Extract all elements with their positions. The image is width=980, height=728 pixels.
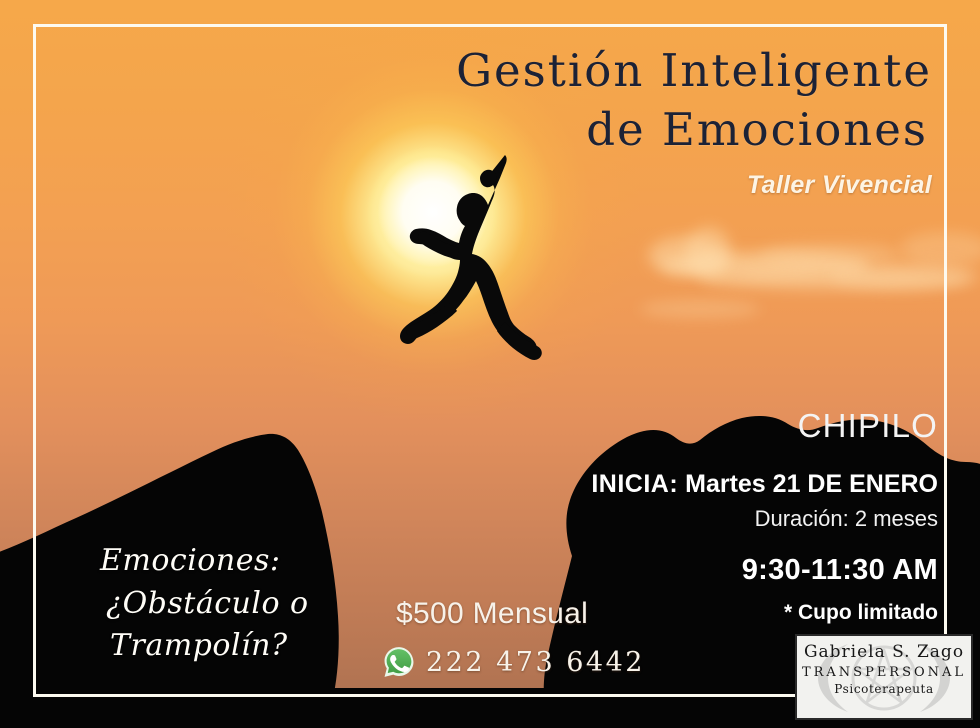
event-details-block: CHIPILO INICIA: Martes 21 DE ENERO Durac…	[538, 408, 938, 625]
poster-title-block: Gestión Inteligente de Emociones Taller …	[412, 42, 932, 200]
tagline-line-1: Emociones:	[100, 540, 390, 583]
phone-number[interactable]: 222 473 6442	[426, 647, 645, 678]
event-time: 9:30-11:30 AM	[538, 554, 938, 587]
event-start-date: INICIA: Martes 21 DE ENERO	[538, 470, 938, 500]
start-value: Martes 21 DE ENERO	[685, 470, 938, 498]
cloud-wisp	[686, 226, 732, 278]
poster-flyer: Gestión Inteligente de Emociones Taller …	[0, 0, 980, 728]
logo-role: Psicoterapeuta	[797, 682, 971, 696]
therapist-logo: Gabriela S. Zago TRANSPERSONAL Psicotera…	[795, 634, 973, 720]
cloud-wisp	[900, 232, 980, 266]
logo-text-block: Gabriela S. Zago TRANSPERSONAL Psicotera…	[797, 636, 971, 697]
whatsapp-contact[interactable]: 222 473 6442	[382, 645, 645, 679]
poster-tagline: Emociones: ¿Obstáculo o Trampolín?	[100, 540, 390, 668]
cloud-wisp	[640, 300, 760, 318]
event-duration: Duración: 2 meses	[538, 506, 938, 532]
logo-specialty: TRANSPERSONAL	[797, 664, 971, 682]
title-line-2: de Emociones	[412, 101, 932, 160]
logo-name: Gabriela S. Zago	[797, 643, 971, 662]
poster-subtitle: Taller Vivencial	[412, 171, 932, 200]
event-capacity-note: * Cupo limitado	[538, 601, 938, 625]
whatsapp-icon[interactable]	[382, 645, 416, 679]
cloud-wisp	[830, 262, 980, 290]
event-city: CHIPILO	[538, 408, 938, 444]
price-label: $500 Mensual	[396, 597, 588, 631]
tagline-line-3: Trampolín?	[100, 625, 390, 668]
start-label: INICIA:	[591, 470, 678, 498]
title-line-1: Gestión Inteligente	[412, 42, 932, 101]
tagline-line-2: ¿Obstáculo o	[100, 583, 390, 626]
cloud-wisp	[760, 244, 900, 264]
